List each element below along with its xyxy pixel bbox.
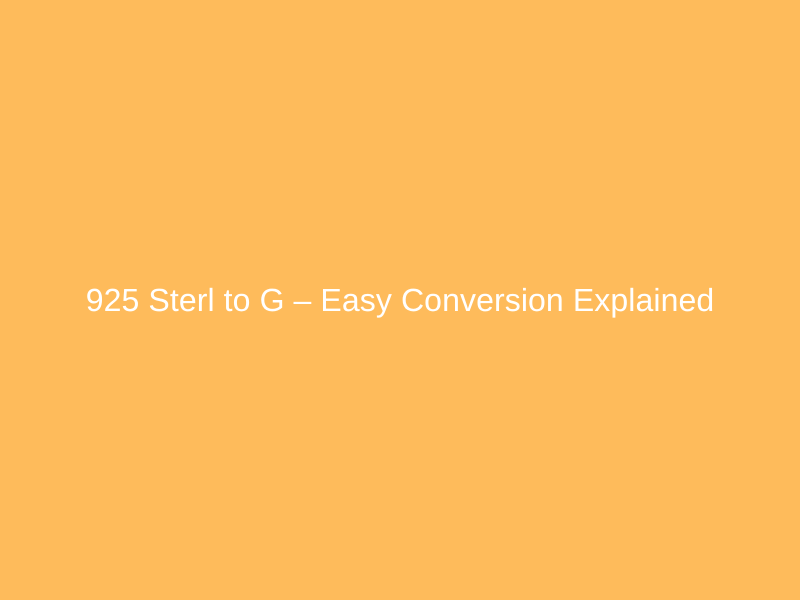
page-title: 925 Sterl to G – Easy Conversion Explain…	[86, 280, 715, 320]
placeholder-banner: 925 Sterl to G – Easy Conversion Explain…	[0, 0, 800, 600]
